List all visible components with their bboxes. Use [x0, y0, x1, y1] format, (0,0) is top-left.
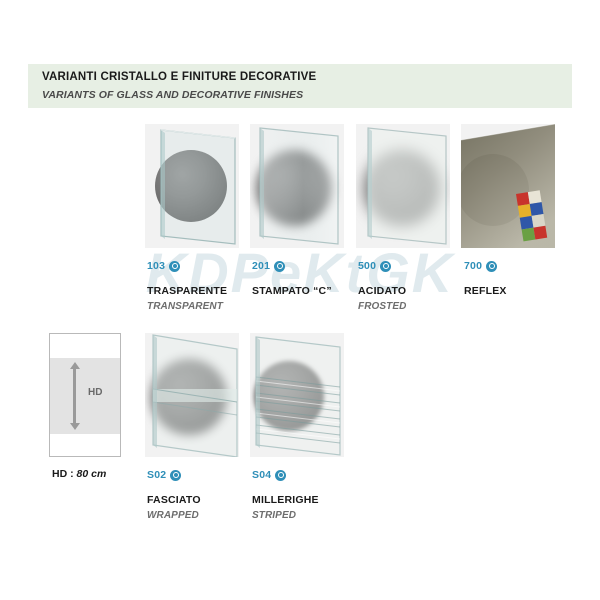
- sample-image-frosted: [356, 124, 450, 248]
- color-swatch-grid-icon: [461, 124, 555, 248]
- code-label: S02: [147, 469, 166, 481]
- sample-image-wrapped: [145, 333, 239, 457]
- sample-image-reflex: [461, 124, 555, 248]
- sample-name-en-s02: WRAPPED: [147, 510, 199, 521]
- sample-code-s02: S02: [147, 469, 181, 481]
- sample-name-it-103: TRASPARENTE: [147, 285, 227, 297]
- info-badge-icon: [380, 261, 391, 272]
- glass-sheet-striped: [250, 333, 344, 457]
- hd-caption: HD : 80 cm: [52, 468, 106, 480]
- sample-code-103: 103: [147, 260, 180, 272]
- info-badge-icon: [169, 261, 180, 272]
- sample-name-en-s04: STRIPED: [252, 510, 296, 521]
- sample-name-it-s04: MILLERIGHE: [252, 494, 319, 506]
- hd-caption-label: HD :: [52, 468, 74, 480]
- glass-sheet-wrapped: [145, 333, 239, 457]
- info-badge-icon: [486, 261, 497, 272]
- sample-code-500: 500: [358, 260, 391, 272]
- page-subtitle: VARIANTS OF GLASS AND DECORATIVE FINISHE…: [42, 89, 303, 101]
- code-label: S04: [252, 469, 271, 481]
- catalog-page: VARIANTI CRISTALLO E FINITURE DECORATIVE…: [0, 0, 600, 600]
- code-label: 201: [252, 260, 270, 272]
- hd-caption-value: 80 cm: [77, 468, 107, 480]
- sample-code-700: 700: [464, 260, 497, 272]
- hd-diagram: HD: [49, 333, 121, 457]
- page-title: VARIANTI CRISTALLO E FINITURE DECORATIVE: [42, 71, 316, 83]
- sample-name-it-s02: FASCIATO: [147, 494, 201, 506]
- code-label: 700: [464, 260, 482, 272]
- info-badge-icon: [275, 470, 286, 481]
- sample-image-striped: [250, 333, 344, 457]
- code-label: 500: [358, 260, 376, 272]
- sample-name-en-103: TRANSPARENT: [147, 301, 223, 312]
- hd-inner-label: HD: [88, 387, 102, 398]
- info-badge-icon: [170, 470, 181, 481]
- hd-dimension-arrow-icon: [68, 362, 81, 430]
- sample-name-it-700: REFLEX: [464, 285, 507, 297]
- code-label: 103: [147, 260, 165, 272]
- sample-code-s04: S04: [252, 469, 286, 481]
- sample-code-201: 201: [252, 260, 285, 272]
- glass-sheet-transparent: [145, 124, 239, 248]
- sample-name-it-201: STAMPATO “C”: [252, 285, 332, 297]
- glass-sheet-frosted: [356, 124, 450, 248]
- glass-sheet-printed-c: [250, 124, 344, 248]
- hd-fill-area: [50, 358, 120, 434]
- sample-name-en-500: FROSTED: [358, 301, 406, 312]
- info-badge-icon: [274, 261, 285, 272]
- sample-image-transparent: [145, 124, 239, 248]
- sample-name-it-500: ACIDATO: [358, 285, 406, 297]
- sample-image-printed-c: [250, 124, 344, 248]
